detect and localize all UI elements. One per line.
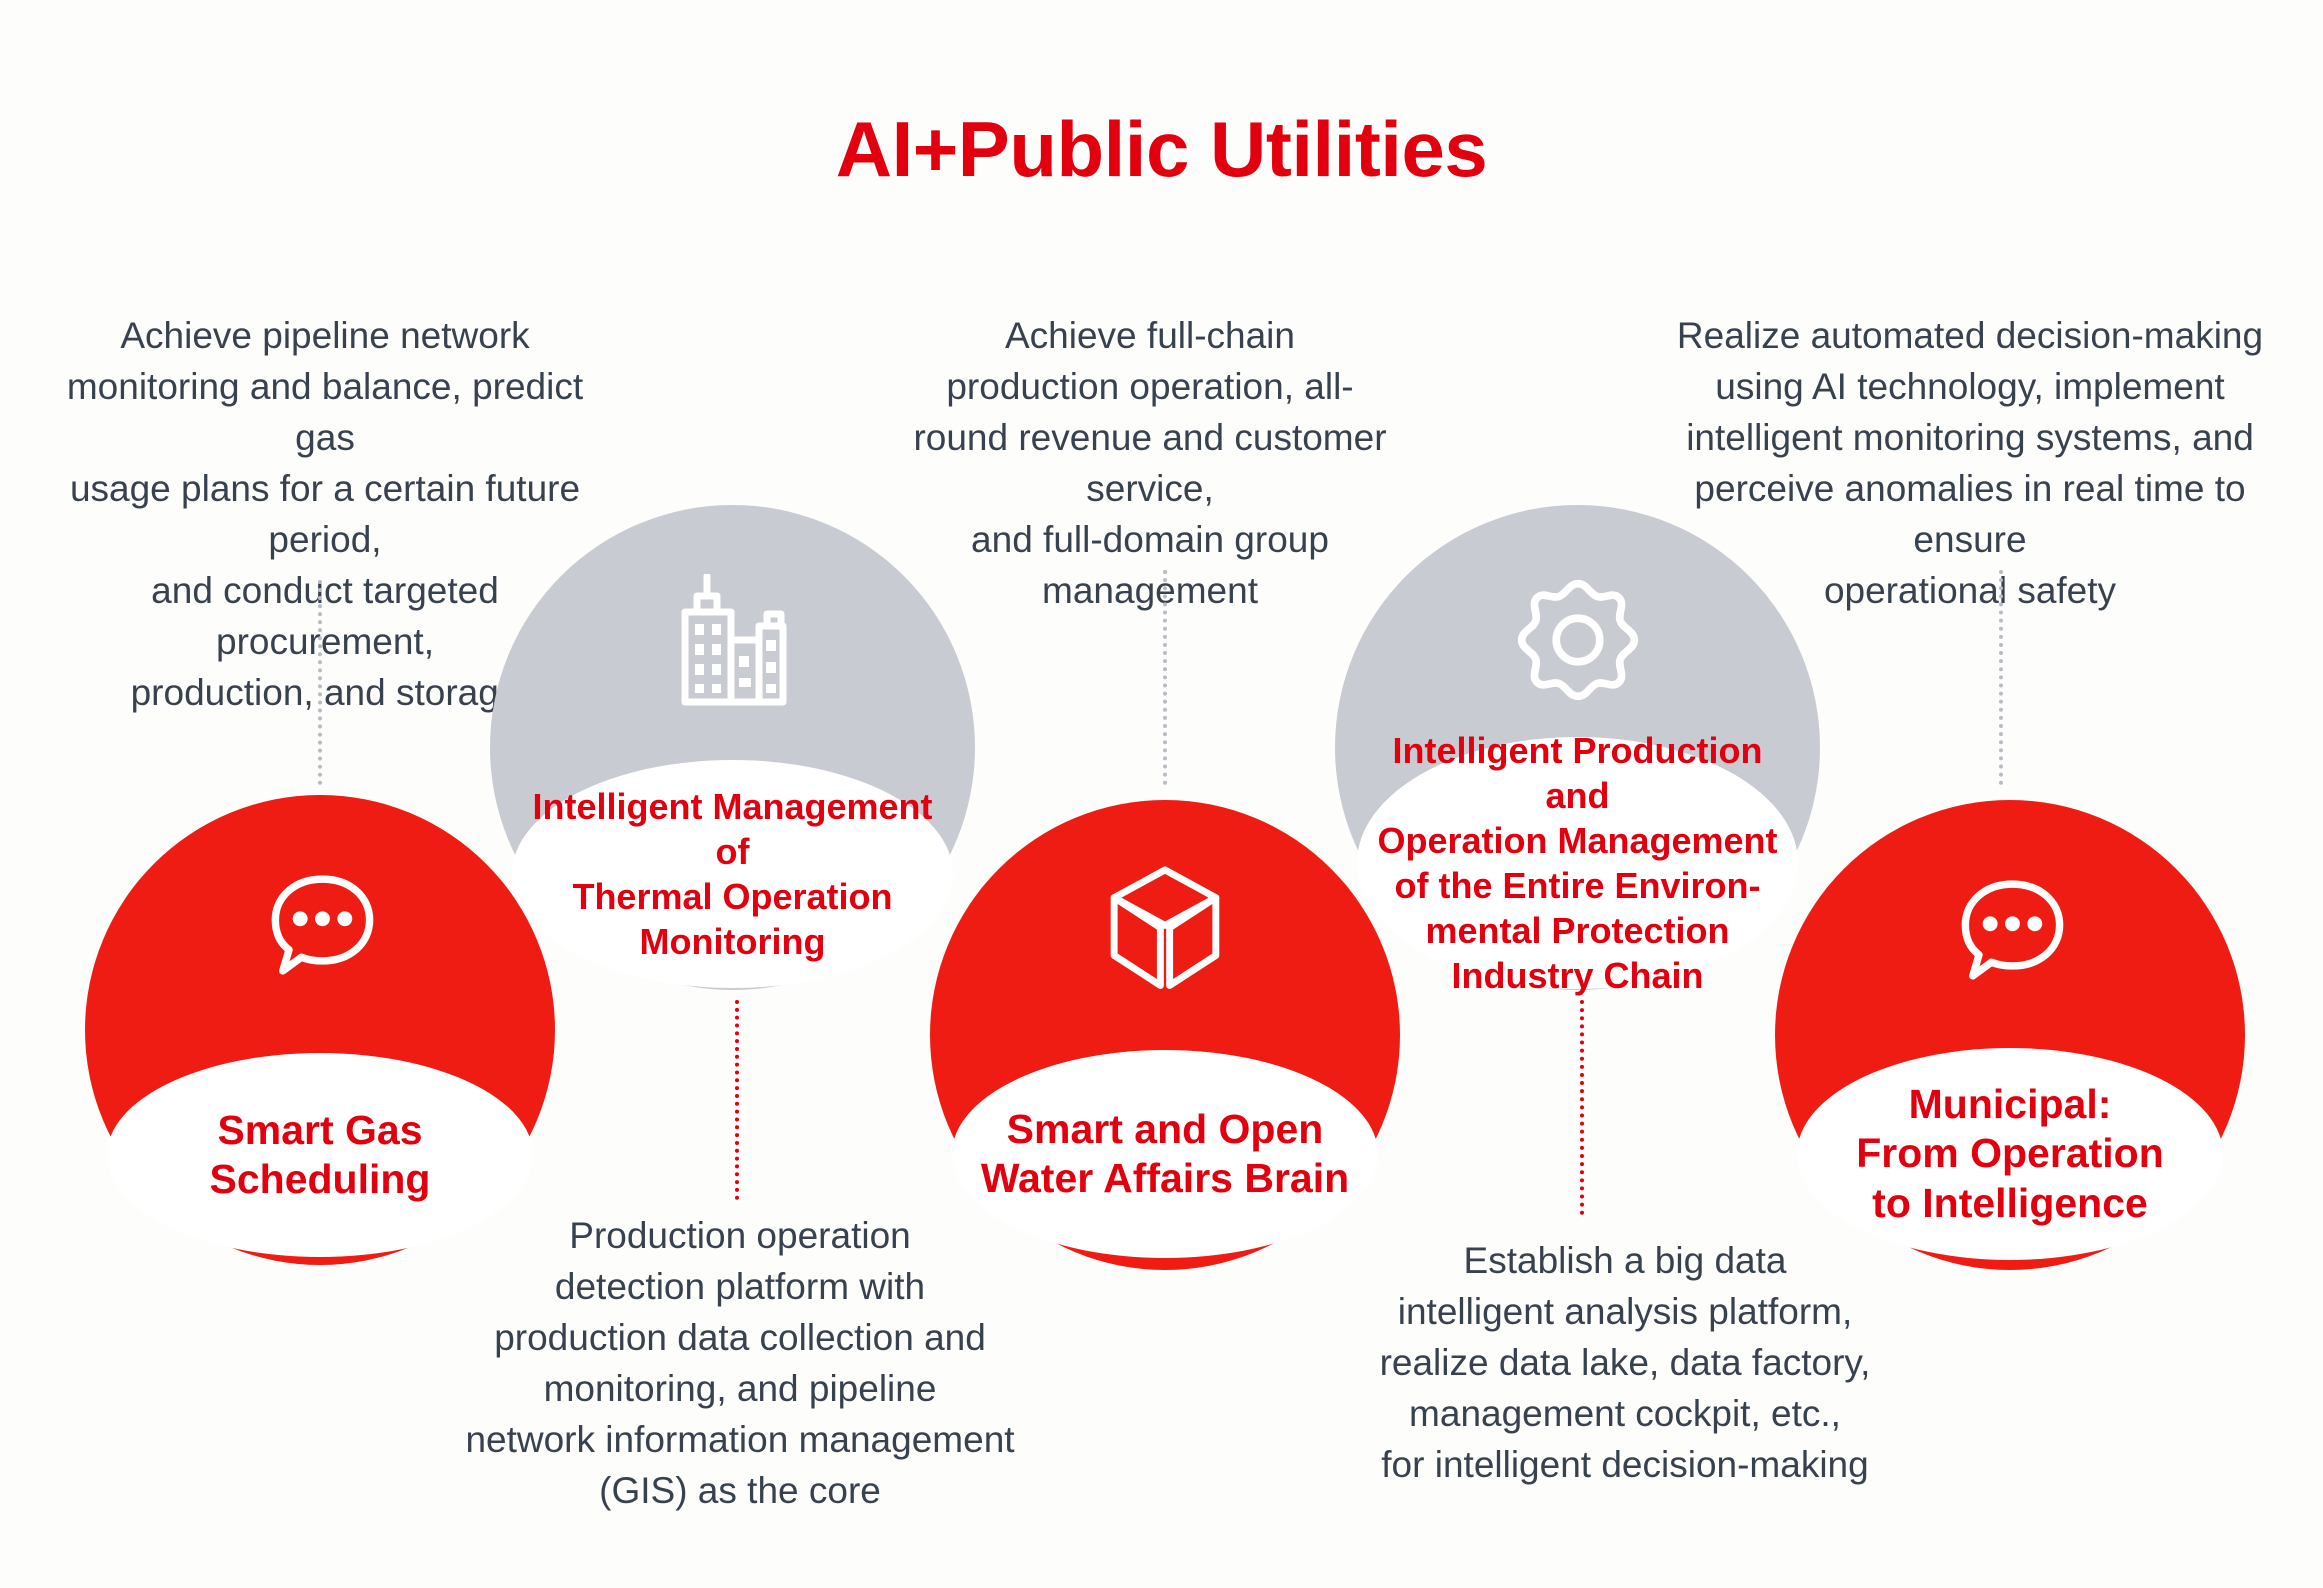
node-environmental-protection-chain[interactable]: Intelligent Production and Operation Man… [1335, 505, 1820, 990]
node-label-water-affairs-brain: Smart and Open Water Affairs Brain [952, 1050, 1378, 1258]
node-label-text: Intelligent Production and Operation Man… [1357, 728, 1798, 998]
description-bottom-thermal-operation-monitoring: Production operation detection platform … [440, 1210, 1040, 1516]
cube-3d-icon [930, 855, 1400, 1005]
chat-bubble-dots-icon [1775, 855, 2245, 1005]
node-label-text: Smart Gas Scheduling [210, 1106, 431, 1204]
node-label-thermal-operation-monitoring: Intelligent Management of Thermal Operat… [512, 760, 953, 988]
node-label-text: Municipal: From Operation to Intelligenc… [1856, 1080, 2164, 1228]
chat-bubble-dots-icon [85, 850, 555, 1000]
connector-dotted-water-affairs-brain [1163, 570, 1167, 785]
gear-icon [1335, 565, 1820, 715]
node-label-smart-gas-scheduling: Smart Gas Scheduling [107, 1053, 533, 1257]
node-label-text: Intelligent Management of Thermal Operat… [532, 784, 932, 964]
connector-dotted-smart-gas-scheduling [318, 580, 322, 785]
description-bottom-environmental-protection-chain: Establish a big data intelligent analysi… [1330, 1235, 1920, 1490]
node-smart-gas-scheduling[interactable]: Smart Gas Scheduling [85, 795, 555, 1265]
node-water-affairs-brain[interactable]: Smart and Open Water Affairs Brain [930, 800, 1400, 1270]
page-title: AI+Public Utilities [0, 110, 2323, 188]
connector-dotted-environmental-protection-chain [1580, 1000, 1584, 1215]
city-buildings-icon [490, 565, 975, 715]
node-label-environmental-protection-chain: Intelligent Production and Operation Man… [1357, 737, 1798, 989]
node-label-municipal-operation-to-intelligence: Municipal: From Operation to Intelligenc… [1797, 1048, 2223, 1260]
node-thermal-operation-monitoring[interactable]: Intelligent Management of Thermal Operat… [490, 505, 975, 990]
connector-dotted-municipal [1999, 570, 2003, 785]
connector-dotted-thermal-operation-monitoring [735, 1000, 739, 1200]
node-label-text: Smart and Open Water Affairs Brain [981, 1105, 1349, 1203]
infographic-canvas: AI+Public Utilities Achieve pipeline net… [0, 0, 2323, 1588]
node-municipal-operation-to-intelligence[interactable]: Municipal: From Operation to Intelligenc… [1775, 800, 2245, 1270]
